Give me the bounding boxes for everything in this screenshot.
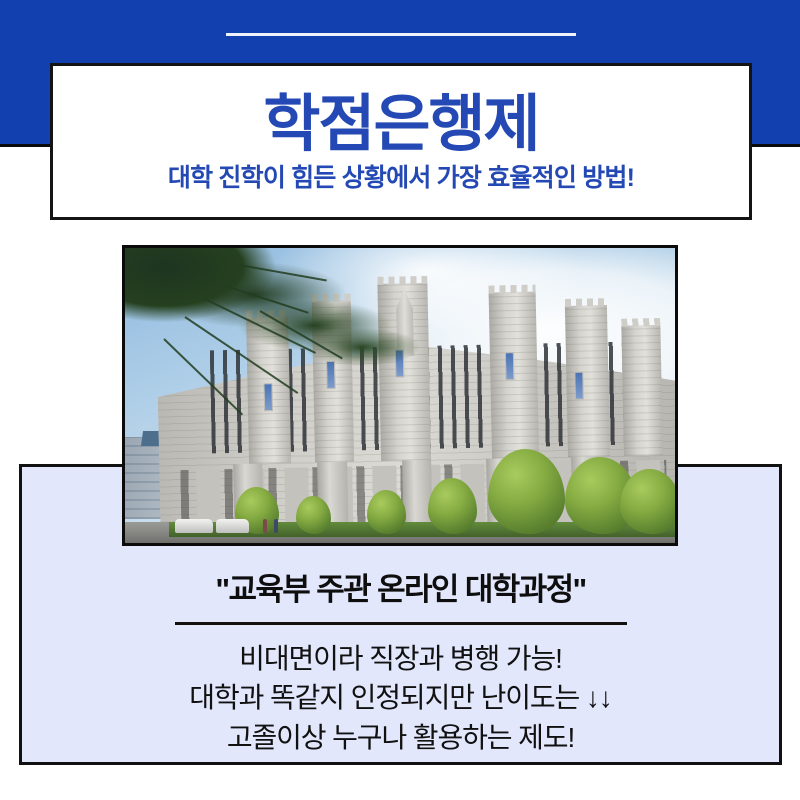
- main-title: 학점은행제: [263, 93, 538, 156]
- title-card: 학점은행제 대학 진학이 힘든 상황에서 가장 효율적인 방법!: [50, 63, 752, 220]
- tower-6: [621, 324, 663, 455]
- tower-5: [565, 305, 610, 456]
- blue-window-3: [505, 351, 515, 379]
- crenellation-6: [621, 317, 661, 326]
- photo-scene: [125, 248, 675, 543]
- pine-tree-branch: [125, 248, 444, 384]
- crenellation-4: [488, 284, 536, 293]
- info-body-line-3: 고졸이상 누구나 활용하는 제도!: [189, 718, 611, 757]
- pine-needle: [198, 276, 309, 314]
- pedestrian-1: [263, 519, 267, 532]
- pine-needle: [205, 298, 316, 354]
- tree-7: [620, 469, 675, 534]
- pine-needle: [184, 316, 298, 394]
- info-heading: "교육부 주관 온라인 대학과정": [215, 564, 585, 609]
- blue-window-4: [574, 371, 584, 399]
- subtitle: 대학 진학이 힘든 상황에서 가장 효율적인 방법!: [168, 165, 634, 193]
- pedestrian-2: [274, 519, 278, 532]
- parked-car-2: [216, 519, 249, 532]
- info-body-line-2: 대학과 똑같지 인정되지만 난이도는 ↓↓: [189, 678, 611, 717]
- info-heading-underline: [175, 622, 627, 625]
- parked-car-1: [175, 519, 214, 532]
- pine-needle: [259, 310, 343, 359]
- promo-poster: 학점은행제 대학 진학이 힘든 상황에서 가장 효율적인 방법! "교육부 주관…: [0, 0, 800, 800]
- info-body-line-1: 비대면이라 직장과 병행 가능!: [189, 639, 611, 678]
- tree-3: [367, 490, 406, 534]
- blue-window-5: [263, 382, 273, 410]
- university-building-photo: [122, 245, 678, 546]
- crenellation-5: [565, 298, 607, 307]
- banner-divider-line: [226, 33, 576, 36]
- info-body: 비대면이라 직장과 병행 가능! 대학과 똑같지 인정되지만 난이도는 ↓↓ 고…: [189, 639, 611, 757]
- pine-needle: [239, 264, 327, 281]
